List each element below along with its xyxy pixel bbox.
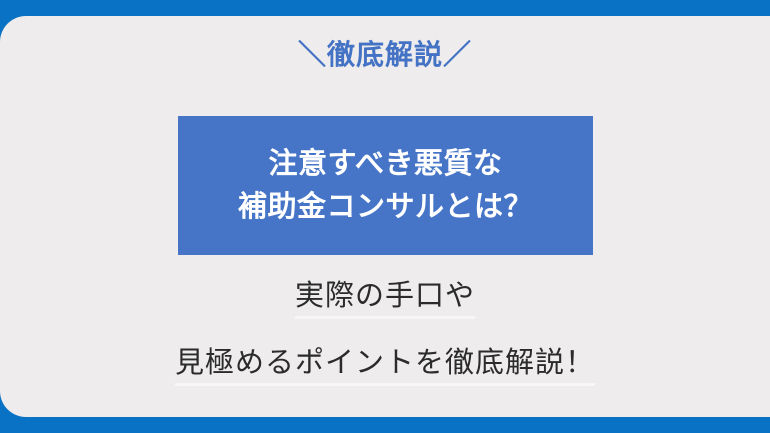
subtitle-line-2-wrap: 見極めるポイントを徹底解説！ [0,349,770,386]
banner-content: ＼徹底解説／ 注意すべき悪質な 補助金コンサルとは？ 実際の手口や 見極めるポイ… [0,0,770,433]
headline-box: 注意すべき悪質な 補助金コンサルとは？ [178,116,593,255]
headline-line-1: 注意すべき悪質な [269,143,503,185]
subtitle-block: 実際の手口や 見極めるポイントを徹底解説！ [0,282,770,416]
subtitle-line-1: 実際の手口や [295,282,475,319]
subtitle-line-1-wrap: 実際の手口や [0,282,770,319]
subtitle-line-2: 見極めるポイントを徹底解説！ [175,349,595,386]
headline-line-2: 補助金コンサルとは？ [238,186,533,228]
kicker-text: ＼徹底解説／ [0,38,770,72]
banner-root: ＼徹底解説／ 注意すべき悪質な 補助金コンサルとは？ 実際の手口や 見極めるポイ… [0,0,770,433]
